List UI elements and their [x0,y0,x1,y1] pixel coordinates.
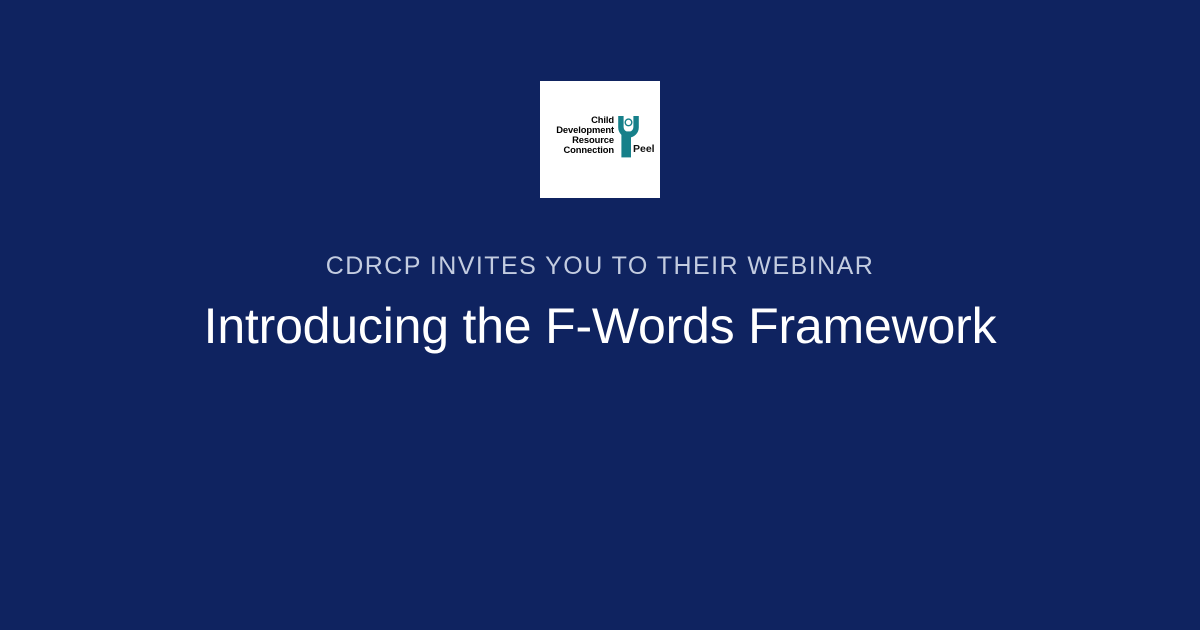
logo-region-label: Peel [633,144,655,155]
logo-lockup: Child Development Resource Connection Pe… [544,114,656,166]
webinar-announcement-card: Child Development Resource Connection Pe… [0,0,1200,630]
card-eyebrow: CDRCP INVITES YOU TO THEIR WEBINAR [0,250,1200,282]
cdrcp-logo: Child Development Resource Connection Pe… [540,81,660,198]
logo-name-line-4: Connection [544,145,614,155]
card-text-block: CDRCP INVITES YOU TO THEIR WEBINAR Intro… [0,250,1200,358]
card-headline: Introducing the F-Words Framework [0,294,1200,358]
logo-organization-name: Child Development Resource Connection [544,115,614,156]
